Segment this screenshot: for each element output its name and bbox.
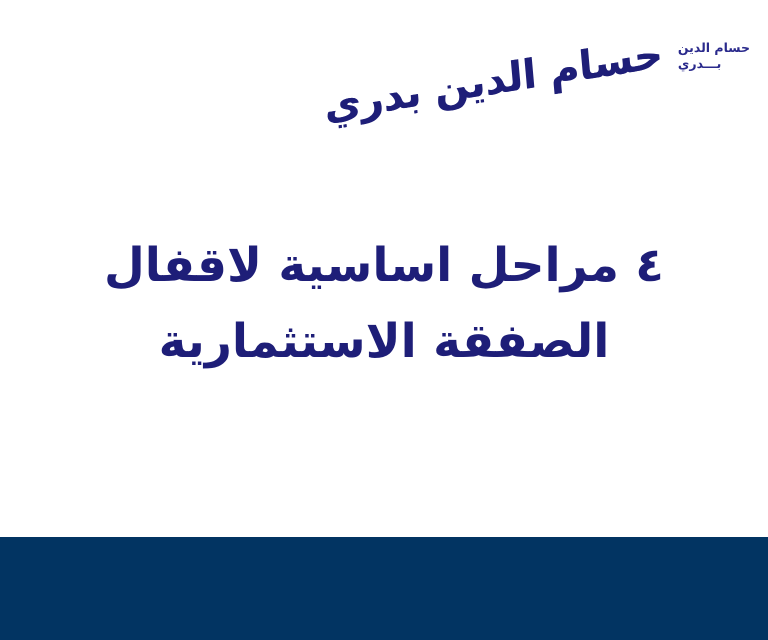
page-title: ٤ مراحل اساسية لاقفال الصفقة الاستثمارية bbox=[0, 228, 768, 380]
brand-calligraphy-icon: حسام الدين بدري bbox=[322, 34, 664, 128]
brand-wordmark-line2: بـــدري bbox=[678, 56, 721, 72]
slide-canvas: حسام الدين بـــدري حسام الدين بدري ٤ مرا… bbox=[0, 0, 768, 640]
brand-logo[interactable]: حسام الدين بـــدري حسام الدين بدري bbox=[320, 34, 750, 74]
bottom-color-bar bbox=[0, 537, 768, 640]
brand-wordmark: حسام الدين بـــدري bbox=[678, 40, 750, 71]
headline-line-1: ٤ مراحل اساسية لاقفال bbox=[60, 228, 708, 304]
brand-wordmark-line1: حسام الدين bbox=[678, 40, 750, 56]
headline-line-2: الصفقة الاستثمارية bbox=[60, 304, 708, 380]
